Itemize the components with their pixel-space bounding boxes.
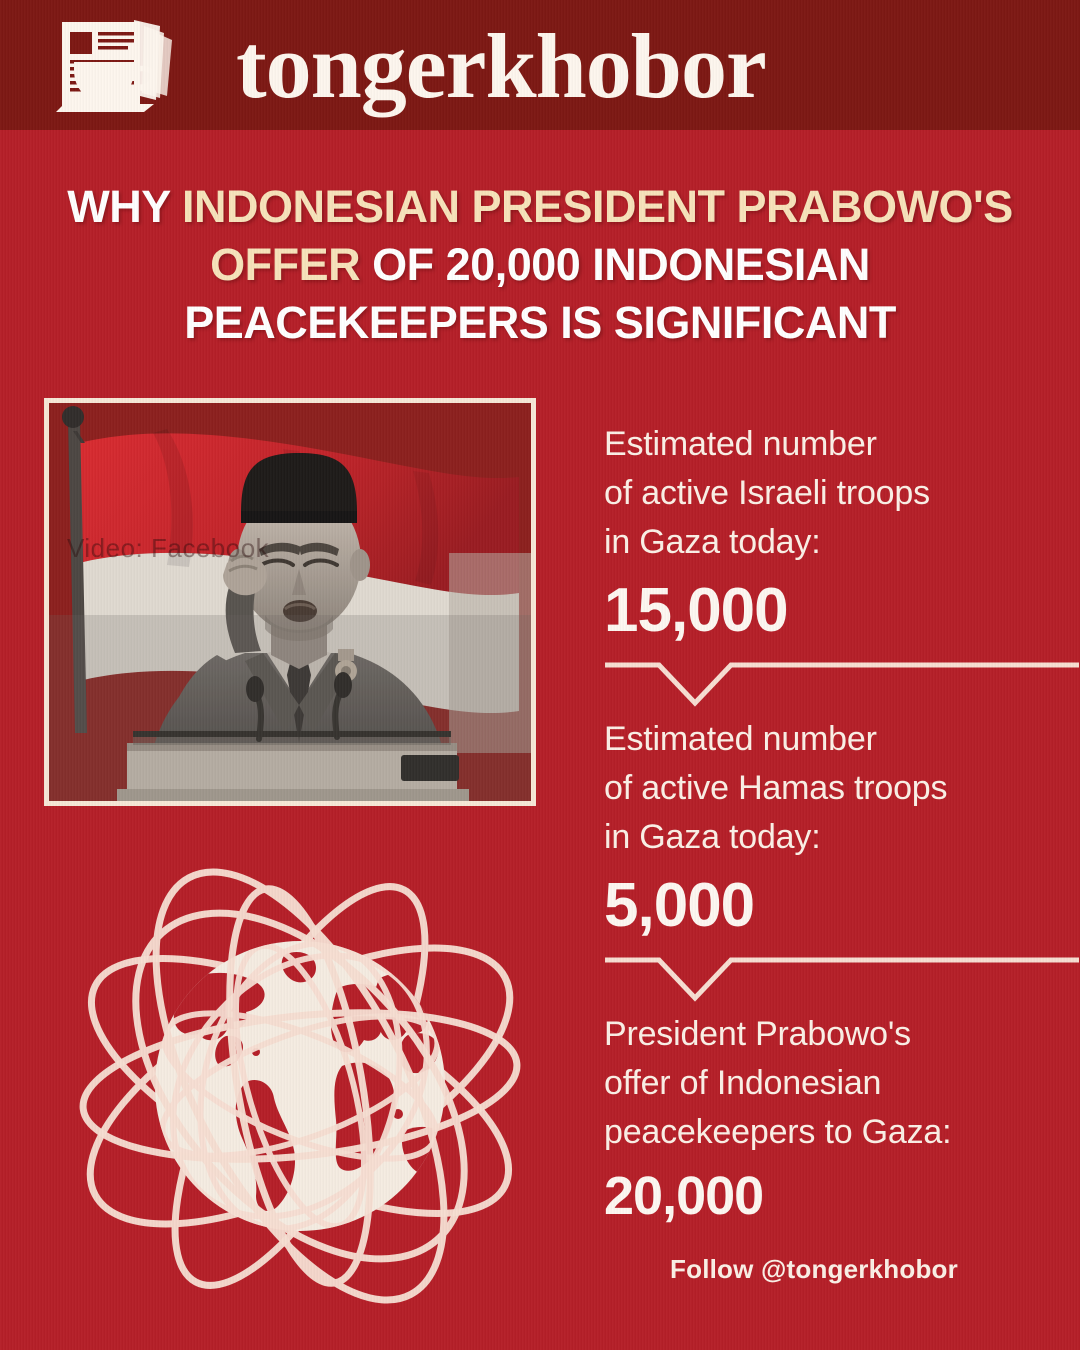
stat-value: 15,000 — [604, 573, 1080, 649]
stat-value: 20,000 — [604, 1163, 1080, 1229]
stat-block-peacekeepers: President Prabowo's offer of Indonesian … — [604, 1010, 1080, 1229]
brand-title: tongerkhobor — [236, 4, 936, 128]
follow-handle: Follow @tongerkhobor — [604, 1254, 1024, 1285]
stat-label-line: President Prabowo's — [604, 1010, 1080, 1059]
photo-image: Video: Facebook — [49, 403, 531, 801]
page-title: WHY INDONESIAN PRESIDENT PRABOWO'S OFFER… — [40, 178, 1040, 352]
stat-label: Estimated number of active Israeli troop… — [604, 420, 1080, 567]
header-bar: tongerkhobor — [0, 0, 1080, 130]
stat-block-hamas-troops: Estimated number of active Hamas troops … — [604, 715, 1080, 944]
stats-column: Estimated number of active Israeli troop… — [604, 420, 1080, 1229]
photo-watermark: Video: Facebook — [67, 533, 269, 564]
prabowo-photo: Video: Facebook — [44, 398, 536, 806]
stat-label: Estimated number of active Hamas troops … — [604, 715, 1080, 862]
stat-label-line: in Gaza today: — [604, 518, 1080, 567]
stat-label-line-bold: peacekeepers to Gaza: — [604, 1108, 1080, 1157]
stat-label-line: Estimated number — [604, 420, 1080, 469]
orbiting-globe-icon — [50, 838, 550, 1328]
stat-label-line: Estimated number — [604, 715, 1080, 764]
stat-label-line: of active Israeli troops — [604, 469, 1080, 518]
stat-label-line: offer of Indonesian — [604, 1059, 1080, 1108]
stat-label: President Prabowo's offer of Indonesian … — [604, 1010, 1080, 1157]
headline-segment-1: WHY — [67, 181, 182, 232]
zigzag-divider — [603, 954, 1079, 1004]
stat-value: 5,000 — [604, 868, 1080, 944]
infographic-poster: tongerkhobor WHY INDONESIAN PRESIDENT PR… — [0, 0, 1080, 1350]
newspaper-coffee-icon — [48, 14, 188, 118]
stat-label-line: of active Hamas troops — [604, 764, 1080, 813]
stat-block-israeli-troops: Estimated number of active Israeli troop… — [604, 420, 1080, 649]
stat-label-line: in Gaza today: — [604, 813, 1080, 862]
zigzag-divider — [603, 659, 1079, 709]
